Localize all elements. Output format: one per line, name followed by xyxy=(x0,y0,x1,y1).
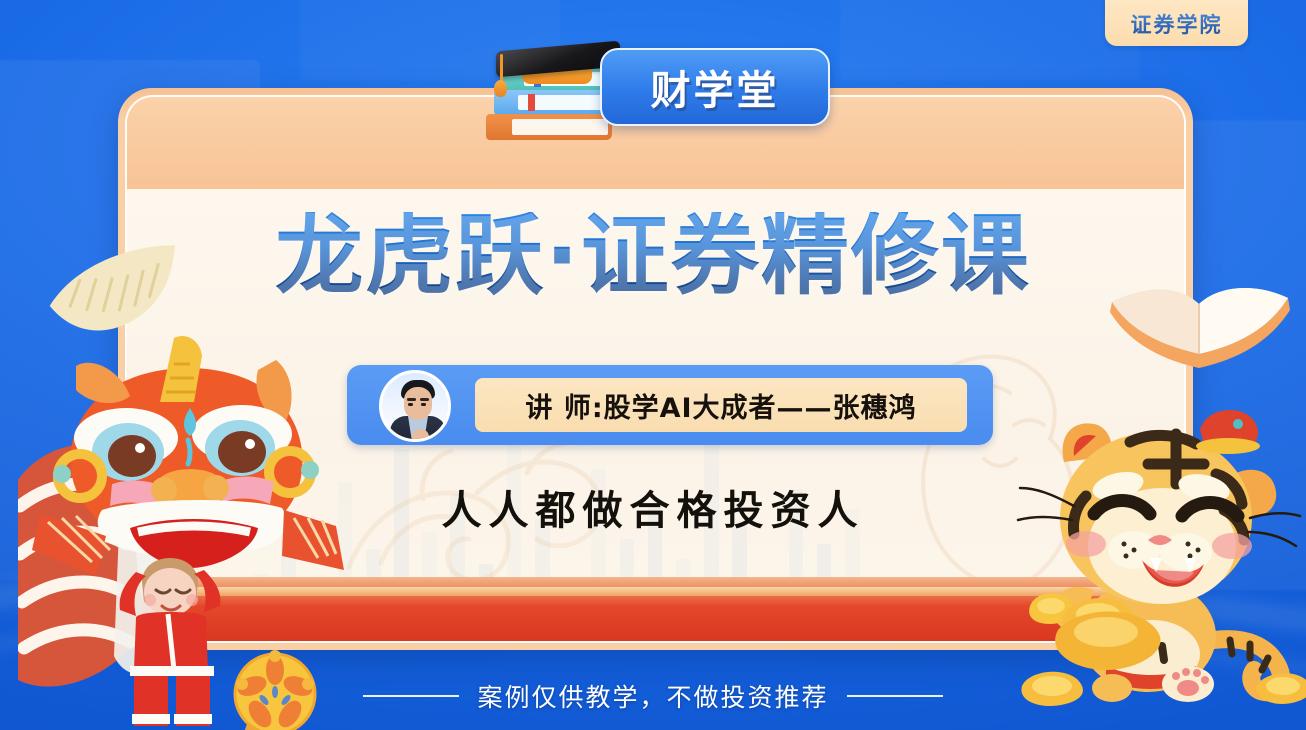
disclaimer-text: 案例仅供教学，不做投资推荐 xyxy=(477,678,828,714)
brand-name-plate[interactable]: 财学堂 xyxy=(600,48,830,126)
instructor-name-label: 讲 师:股学AI大成者——张穗鸿 xyxy=(525,386,916,425)
book-blue xyxy=(494,90,614,115)
background-panel xyxy=(840,0,1140,80)
avatar xyxy=(379,370,451,442)
instructor-name-plate: 讲 师:股学AI大成者——张穗鸿 xyxy=(475,378,967,432)
page-title: 龙虎跃·证券精修课 xyxy=(0,212,1306,300)
disclaimer: 案例仅供教学，不做投资推荐 xyxy=(0,678,1306,714)
brand-logo[interactable]: 财学堂 xyxy=(476,6,836,156)
tiger-mascot-illustration xyxy=(1002,378,1302,708)
brand-name-label: 财学堂 xyxy=(651,58,780,116)
instructor-bar[interactable]: 讲 师:股学AI大成者——张穗鸿 xyxy=(347,365,993,445)
academy-badge[interactable]: 证券学院 xyxy=(1105,0,1248,46)
book-orange xyxy=(486,114,612,140)
disclaimer-rule-left xyxy=(363,695,459,697)
academy-badge-label: 证券学院 xyxy=(1131,9,1223,39)
poster-canvas: 证券学院 xyxy=(0,0,1306,730)
disclaimer-rule-right xyxy=(847,695,943,697)
stacked-books-icon xyxy=(486,40,616,150)
